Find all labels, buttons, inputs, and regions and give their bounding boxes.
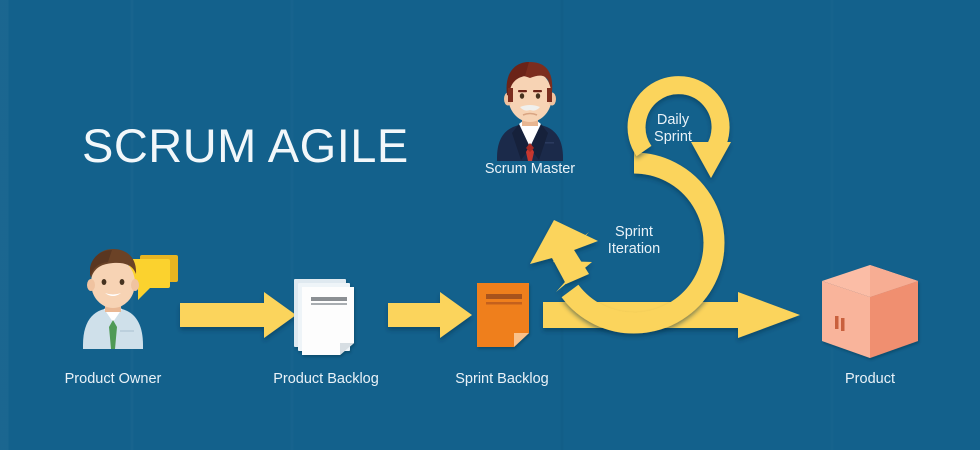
label-sprint-iteration-line2: Iteration (594, 241, 674, 258)
label-sprint-iteration: Sprint Iteration (594, 224, 674, 258)
label-product-owner: Product Owner (43, 371, 183, 387)
person-product-owner-icon (83, 249, 178, 349)
label-daily-sprint-line1: Daily (633, 112, 713, 129)
label-product: Product (800, 371, 940, 387)
scrum-agile-diagram: SCRUM AGILE Product Owner Product Backlo… (0, 0, 980, 450)
label-sprint-backlog: Sprint Backlog (432, 371, 572, 387)
label-product-backlog: Product Backlog (256, 371, 396, 387)
label-daily-sprint: Daily Sprint (633, 112, 713, 146)
label-sprint-iteration-line1: Sprint (594, 224, 674, 241)
person-scrum-master-icon (497, 62, 563, 161)
label-scrum-master: Scrum Master (460, 161, 600, 177)
page-title: SCRUM AGILE (82, 118, 409, 173)
label-daily-sprint-line2: Sprint (633, 129, 713, 146)
